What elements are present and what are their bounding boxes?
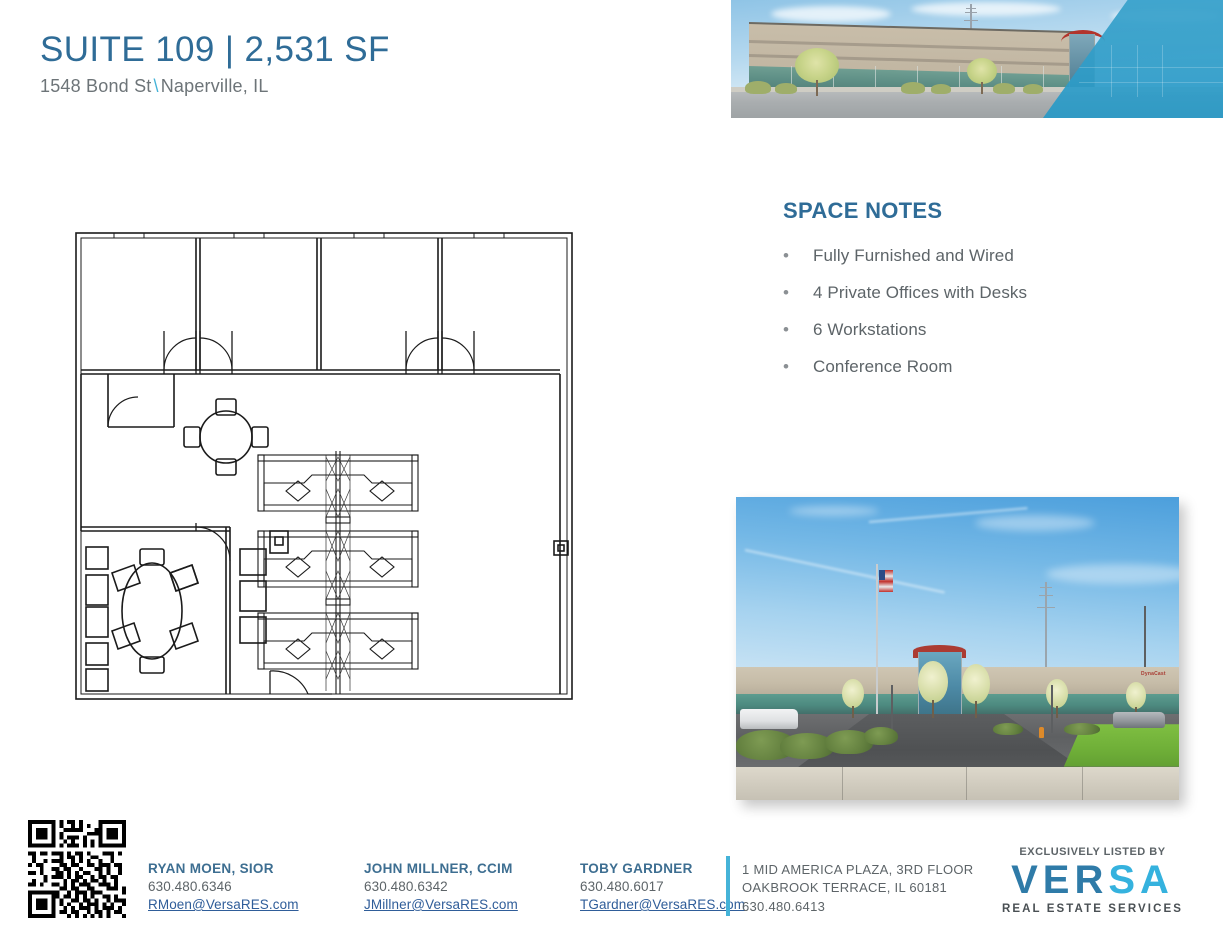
banner-cloud [771, 6, 891, 22]
photo-tree [918, 661, 948, 719]
contact-email-link[interactable]: TGardner@VersaRES.com [580, 897, 745, 912]
space-notes-heading: SPACE NOTES [783, 198, 1123, 224]
photo-light-pole [891, 685, 893, 733]
space-notes-section: SPACE NOTES • Fully Furnished and Wired … [783, 198, 1123, 394]
contact-list: RYAN MOEN, SIOR 630.480.6346 RMoen@Versa… [148, 861, 762, 914]
page-title-block: SUITE 109 | 2,531 SF 1548 Bond St\Naperv… [40, 30, 390, 97]
list-item: • Fully Furnished and Wired [783, 246, 1123, 266]
contact-card: TOBY GARDNER 630.480.6017 TGardner@Versa… [580, 861, 762, 914]
photo-tree [962, 664, 990, 719]
banner-mullion [1043, 66, 1044, 89]
photo-fire-hydrant [1039, 727, 1044, 738]
photo-shrub [1064, 723, 1100, 735]
photo-vehicle-white-jeep [740, 709, 798, 729]
banner-shrub [993, 83, 1015, 94]
contact-name: RYAN MOEN, SIOR [148, 861, 330, 876]
banner-shrub [931, 84, 951, 94]
photo-cloud [1046, 564, 1179, 584]
photo-shrub [864, 727, 898, 745]
office-address-line2: OAKBROOK TERRACE, IL 60181 [742, 879, 974, 897]
photo-sidewalk-joint [1082, 767, 1083, 800]
brand-word-dark: VER [1011, 860, 1108, 900]
contact-phone[interactable]: 630.480.6342 [364, 879, 546, 894]
banner-shrub [1023, 84, 1043, 94]
page-title: SUITE 109 | 2,531 SF [40, 30, 390, 69]
address-street: 1548 Bond St [40, 76, 152, 96]
property-photo-canvas: DynaCast [736, 497, 1179, 800]
flyer-page: SUITE 109 | 2,531 SF 1548 Bond St\Naperv… [0, 0, 1223, 944]
banner-photo [731, 0, 1223, 118]
photo-flag-union [879, 570, 885, 580]
contact-card: RYAN MOEN, SIOR 630.480.6346 RMoen@Versa… [148, 861, 330, 914]
list-item: • Conference Room [783, 357, 1123, 377]
space-note-text: 6 Workstations [813, 320, 927, 340]
brand-eyebrow: EXCLUSIVELY LISTED BY [985, 846, 1200, 858]
banner-mullion [959, 66, 960, 89]
address-city-state: Naperville, IL [161, 76, 269, 96]
photo-sidewalk-joint [842, 767, 843, 800]
contact-card: JOHN MILLNER, CCIM 630.480.6342 JMillner… [364, 861, 546, 914]
photo-shrub [993, 723, 1023, 735]
contact-email-link[interactable]: RMoen@VersaRES.com [148, 897, 299, 912]
contact-email-link[interactable]: JMillner@VersaRES.com [364, 897, 518, 912]
photo-vehicle-sedan [1113, 712, 1165, 728]
banner-cloud [911, 2, 1061, 16]
space-note-text: Fully Furnished and Wired [813, 246, 1014, 266]
photo-sidewalk-joint [966, 767, 967, 800]
brand-tagline: REAL ESTATE SERVICES [985, 903, 1200, 915]
office-phone: 630.480.6413 [742, 898, 974, 916]
bullet-icon: • [783, 284, 813, 301]
contact-phone[interactable]: 630.480.6017 [580, 879, 762, 894]
list-item: • 6 Workstations [783, 320, 1123, 340]
banner-shrub [775, 83, 797, 94]
contact-name: TOBY GARDNER [580, 861, 762, 876]
brand-wordmark: VERSA [985, 860, 1200, 900]
photo-flagpole [876, 564, 878, 716]
photo-power-tower [1037, 582, 1055, 673]
brand-word-light: SA [1108, 860, 1174, 900]
space-note-text: 4 Private Offices with Desks [813, 283, 1027, 303]
banner-shrub [901, 82, 925, 94]
bullet-icon: • [783, 321, 813, 338]
office-address-line1: 1 MID AMERICA PLAZA, 3RD FLOOR [742, 861, 974, 879]
list-item: • 4 Private Offices with Desks [783, 283, 1123, 303]
contact-name: JOHN MILLNER, CCIM [364, 861, 546, 876]
photo-tree [842, 679, 864, 718]
photo-sidewalk [736, 767, 1179, 800]
banner-mullion [875, 66, 876, 89]
address-separator: \ [152, 76, 161, 96]
photo-tree [1046, 679, 1068, 718]
photo-tenant-sign: DynaCast [1141, 671, 1166, 677]
qr-code[interactable] [28, 820, 126, 918]
contact-phone[interactable]: 630.480.6346 [148, 879, 330, 894]
property-photo: DynaCast [736, 497, 1179, 800]
banner-shrub [745, 81, 771, 94]
floor-plan [74, 231, 574, 701]
property-address: 1548 Bond St\Naperville, IL [40, 76, 390, 97]
space-note-text: Conference Room [813, 357, 952, 377]
photo-light-pole [1051, 685, 1053, 733]
banner-tree [795, 48, 839, 96]
office-address: 1 MID AMERICA PLAZA, 3RD FLOOR OAKBROOK … [742, 861, 974, 916]
footer-divider [726, 856, 730, 916]
bullet-icon: • [783, 358, 813, 375]
brand-logo: EXCLUSIVELY LISTED BY VERSA REAL ESTATE … [985, 846, 1200, 915]
bullet-icon: • [783, 247, 813, 264]
